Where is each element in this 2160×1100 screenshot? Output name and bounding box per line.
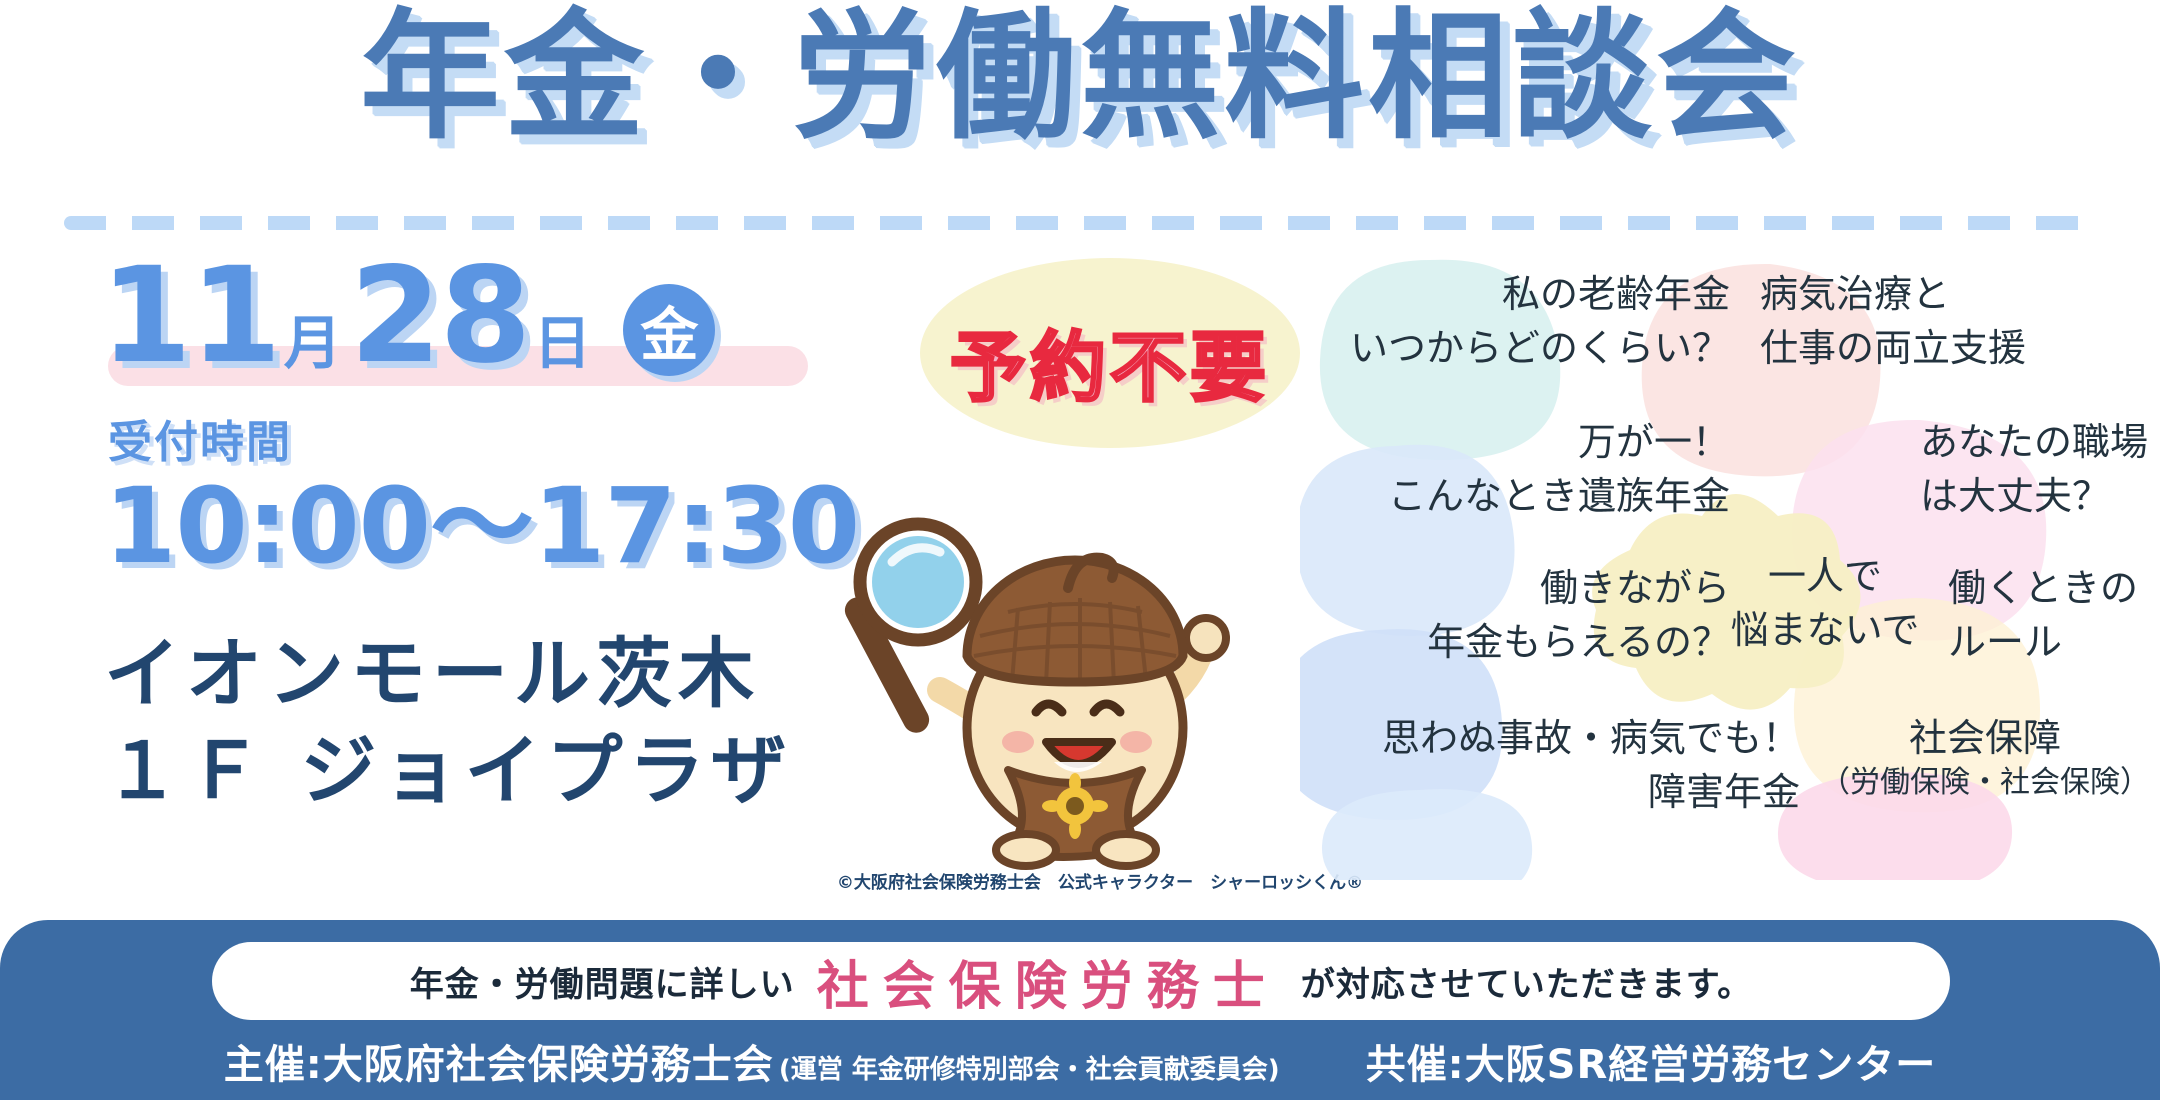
no-reservation-label: 予約不要 (900, 306, 1320, 416)
date-inline-group: 11 月 28 日 金 (100, 250, 860, 382)
poster-title-area: 年金・労働無料相談会 (0, 8, 2160, 148)
footer-post-text: が対応させていただきます。 (1301, 957, 1753, 1006)
poster-root: 年金・労働無料相談会 11 月 28 日 金 受付時間 10:00〜17:30 … (0, 0, 2160, 1100)
venue-line-1: イオンモール茨木 (104, 625, 860, 722)
footer-highlight-card: 年金・労働問題に詳しい 社会保険労務士 が対応させていただきます。 (212, 942, 1950, 1020)
topic-item-6: 一人で 悩まないで (1710, 550, 1940, 658)
topic-item-1: 私の老齢年金 いつからどのくらい？ (1300, 268, 1730, 376)
venue-line-2: １Ｆ ジョイプラザ (104, 722, 860, 819)
topic-item-4: あなたの職場 は大丈夫？ (1920, 416, 2160, 524)
topic-item-9: 社会保障 (1840, 712, 2130, 766)
reception-label: 受付時間 (0, 406, 860, 470)
month-unit-label: 月 (280, 314, 350, 382)
month-number: 11 (100, 250, 280, 382)
topic-item-8: 思わぬ事故・病気でも！ 障害年金 (1300, 712, 1800, 820)
event-date-row: 11 月 28 日 金 (0, 250, 860, 390)
mascot-credit-text: ©大阪府社会保険労務士会 公式キャラクター シャーロッシくん® (820, 868, 1380, 893)
topic-item-7: 働くときの ルール (1948, 562, 2160, 670)
footer-organizers: 主催:大阪府社会保険労務士会 (運営 年金研修特別部会・社会貢献委員会) 共催:… (0, 1032, 2160, 1090)
organizer-subtext: (運営 年金研修特別部会・社会貢献委員会) (779, 1055, 1280, 1085)
venue-block: イオンモール茨木 １Ｆ ジョイプラザ (0, 625, 860, 820)
page-title: 年金・労働無料相談会 (360, 8, 1800, 148)
footer-pre-text: 年金・労働問題に詳しい (410, 957, 795, 1006)
event-details-column: 11 月 28 日 金 受付時間 10:00〜17:30 イオンモール茨木 １Ｆ… (0, 250, 860, 870)
topic-item-3: 万が一！ こんなとき遺族年金 (1300, 416, 1730, 524)
topic-item-5: 働きながら 年金もらえるの？ (1300, 562, 1730, 670)
weekday-badge: 金 (623, 284, 715, 376)
footer-banner: 年金・労働問題に詳しい 社会保険労務士 が対応させていただきます。 主催:大阪府… (0, 920, 2160, 1100)
organizer-group: 主催:大阪府社会保険労務士会 (運営 年金研修特別部会・社会貢献委員会) (224, 1032, 1280, 1090)
footer-main-text: 社会保険労務士 (817, 944, 1279, 1019)
co-organizer-name: 共催:大阪SR経営労務センター (1366, 1032, 1937, 1090)
topic-item-10: （労働保険・社会保険） (1820, 762, 2150, 805)
topic-item-2: 病気治療と 仕事の両立支援 (1760, 268, 2160, 376)
dashed-divider (64, 216, 2104, 230)
day-number: 28 (350, 250, 530, 382)
day-unit-label: 日 (529, 314, 599, 382)
no-reservation-badge: 予約不要 (900, 258, 1320, 448)
mascot-illustration (840, 470, 1310, 890)
topic-cloud: 私の老齢年金 いつからどのくらい？ 病気治療と 仕事の両立支援 万が一！ こんな… (1300, 250, 2160, 880)
organizer-name: 主催:大阪府社会保険労務士会 (224, 1042, 774, 1088)
reception-time: 10:00〜17:30 (0, 472, 860, 581)
